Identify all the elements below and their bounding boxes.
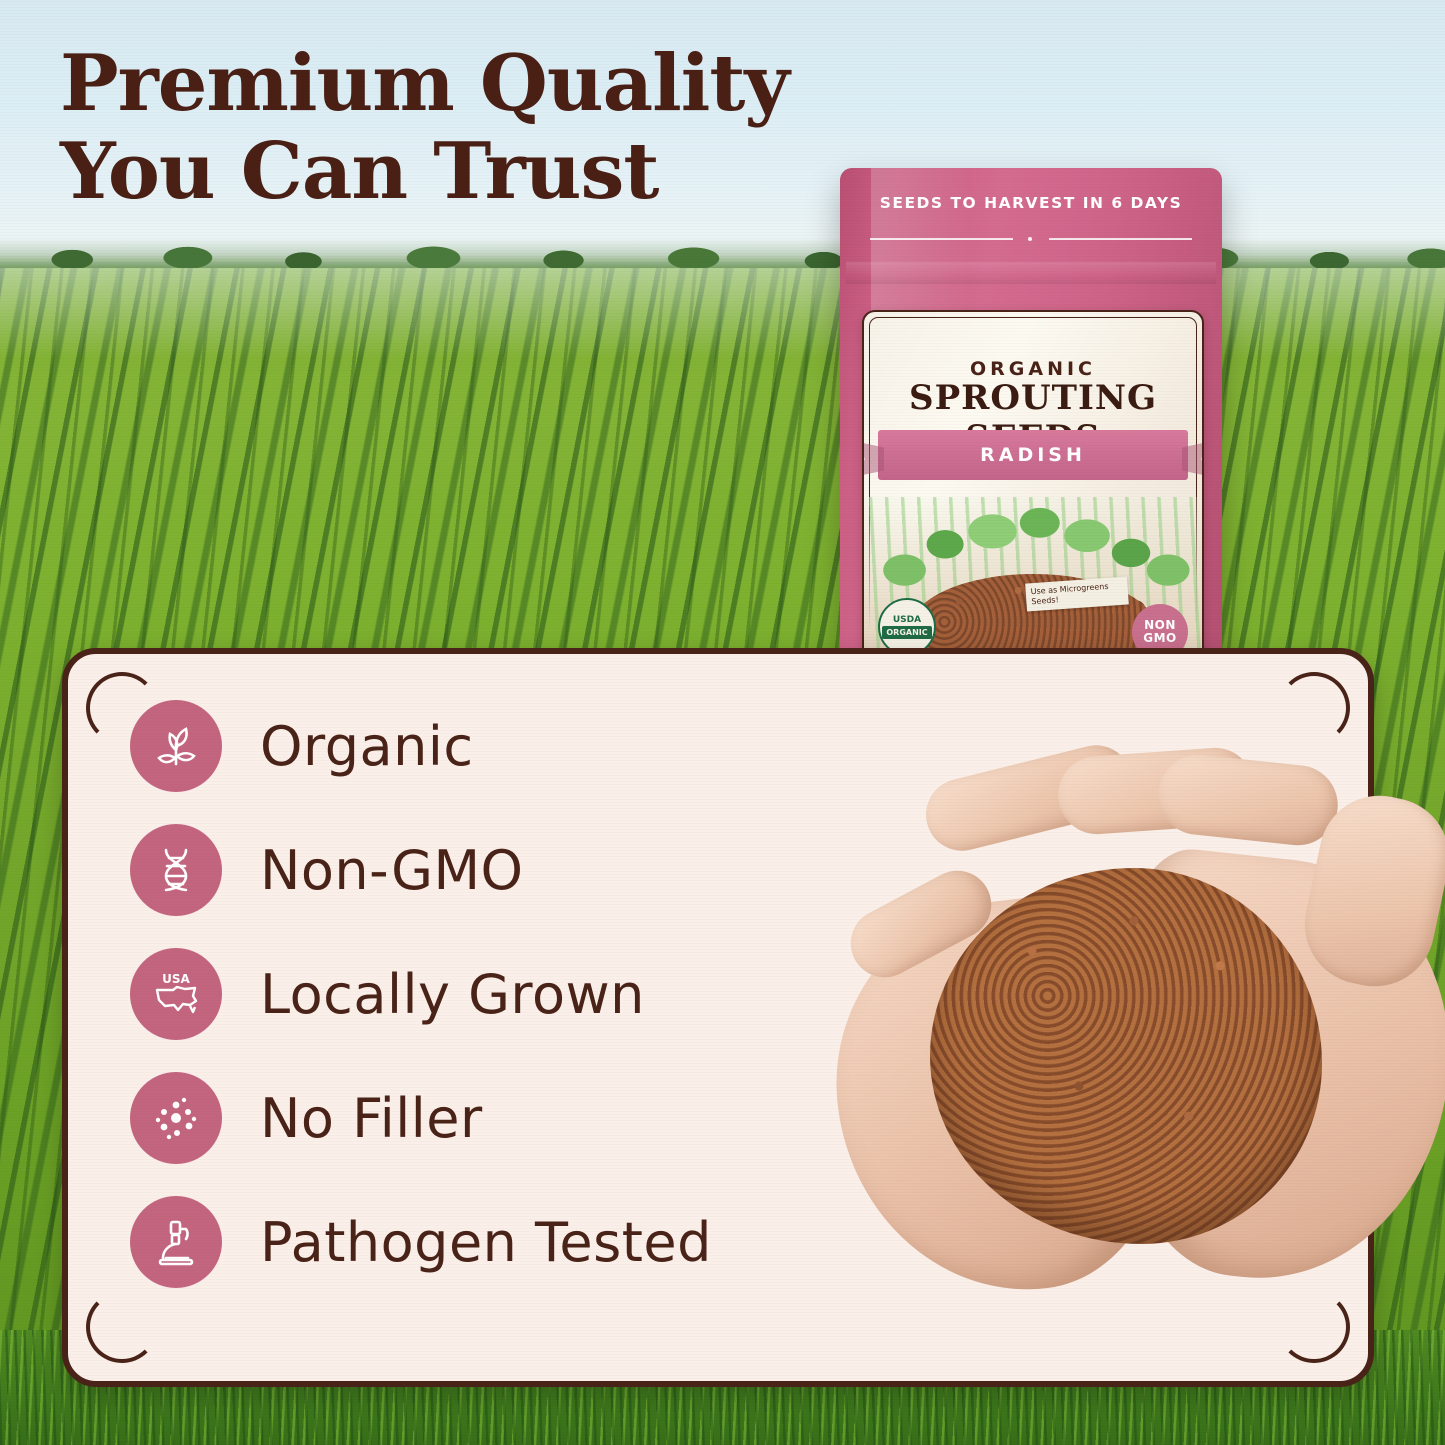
feature-item-organic: Organic xyxy=(130,684,930,808)
feature-item-no-filler: No Filler xyxy=(130,1056,930,1180)
seed-dots-icon xyxy=(130,1072,222,1164)
hands-holding-seeds xyxy=(828,752,1445,1322)
gmo-badge-line2: GMO xyxy=(1143,632,1177,645)
finger xyxy=(1154,751,1341,849)
product-marketing-image: Premium Quality You Can Trust SEEDS TO H… xyxy=(0,0,1445,1445)
sprout-leaves-icon xyxy=(130,700,222,792)
dna-helix-icon xyxy=(130,824,222,916)
label-ribbon: RADISH xyxy=(878,430,1188,480)
headline-line-1: Premium Quality xyxy=(60,40,860,128)
feature-label: Non-GMO xyxy=(260,839,524,902)
usda-badge-line1: USDA xyxy=(893,615,921,626)
feature-label: Pathogen Tested xyxy=(260,1211,712,1274)
microscope-icon xyxy=(130,1196,222,1288)
corner-arc-top-right xyxy=(1278,672,1350,744)
field-haze xyxy=(0,268,1445,358)
feature-item-pathogen-tested: Pathogen Tested xyxy=(130,1180,930,1304)
usa-map-icon: USA xyxy=(130,948,222,1040)
feature-item-non-gmo: Non-GMO xyxy=(130,808,930,932)
headline-line-2: You Can Trust xyxy=(60,128,860,216)
label-variety-text: RADISH xyxy=(878,444,1188,466)
feature-item-locally-grown: USA Locally Grown xyxy=(130,932,930,1056)
package-tagline: SEEDS TO HARVEST IN 6 DAYS xyxy=(840,194,1222,212)
feature-list: Organic Non-GMO USA xyxy=(130,684,930,1304)
page-title: Premium Quality You Can Trust xyxy=(60,40,860,216)
feature-label: No Filler xyxy=(260,1087,483,1150)
feature-label: Organic xyxy=(260,715,474,778)
package-divider-rule xyxy=(870,238,1192,240)
label-organic-text: ORGANIC xyxy=(864,358,1202,380)
package-zip-seal xyxy=(846,262,1216,284)
svg-text:USA: USA xyxy=(162,972,190,986)
usda-badge-line2: ORGANIC xyxy=(882,626,931,639)
feature-label: Locally Grown xyxy=(260,963,645,1026)
